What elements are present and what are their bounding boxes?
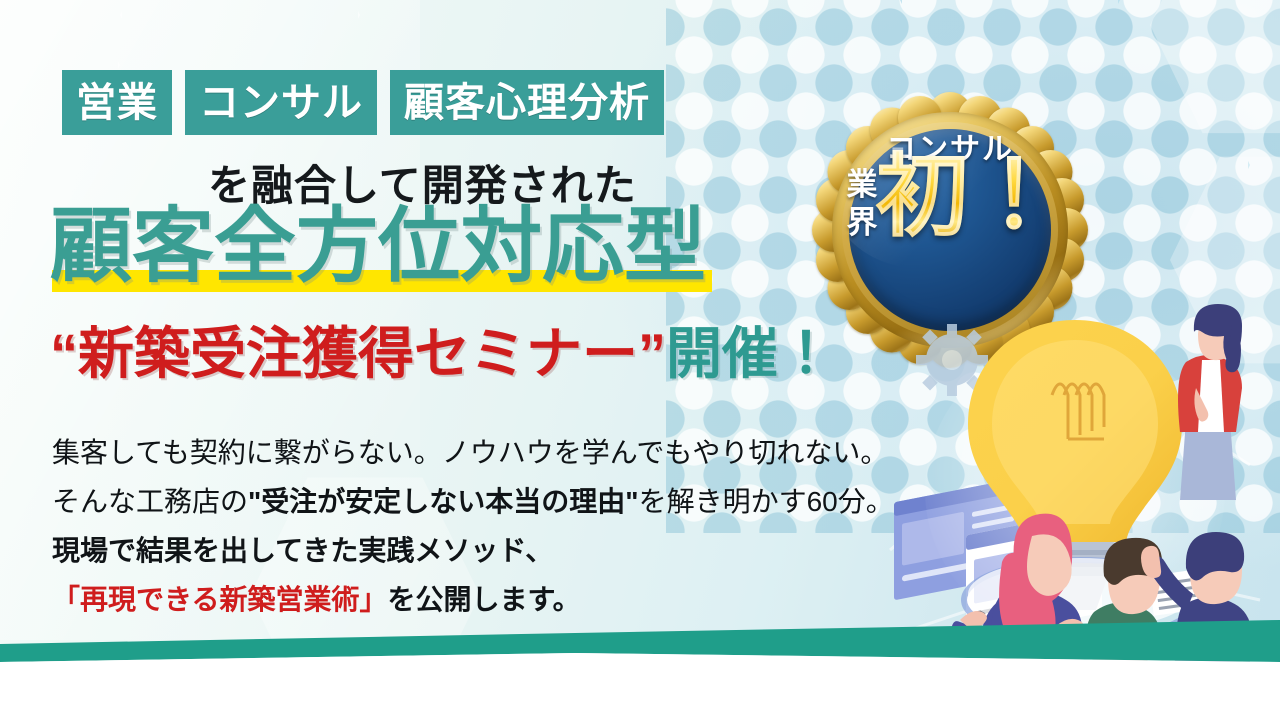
tag-psychology: 顧客心理分析 — [390, 70, 664, 135]
body-line-1: 集客しても契約に繋がらない。ノウハウを学んでもやり切れない。 — [52, 428, 894, 477]
seminar-title-quoted: “新築受注獲得セミナー” — [50, 322, 666, 385]
main-headline: 顧客全方位対応型 — [48, 206, 708, 296]
seminar-title-suffix: 開催！ — [666, 322, 834, 385]
chevron-bottom-white — [0, 653, 1280, 720]
body-line-2-pre: そんな工務店の — [52, 486, 248, 517]
tag-eigyo: 営業 — [62, 70, 172, 135]
person-woman-red-jacket — [1178, 304, 1242, 500]
chevron-svg — [0, 600, 1280, 720]
body-line-2-bold: "受注が安定しない本当の理由" — [248, 486, 639, 517]
seminar-banner: 営業 コンサル 顧客心理分析 を融合して開発された 顧客全方位対応型 “新築受注… — [0, 0, 1280, 720]
tag-row: 営業 コンサル 顧客心理分析 — [62, 70, 664, 135]
body-line-2: そんな工務店の"受注が安定しない本当の理由"を解き明かす60分。 — [52, 477, 894, 526]
body-line-3: 現場で結果を出してきた実践メソッド、 — [52, 526, 894, 575]
bottom-chevron-band — [0, 600, 1280, 720]
hexagon-fill — [1150, 0, 1280, 140]
body-copy: 集客しても契約に繋がらない。ノウハウを学んでもやり切れない。 そんな工務店の"受… — [52, 428, 894, 624]
seal-main-text: 初！ — [876, 150, 1060, 242]
body-line-2-post: を解き明かす60分。 — [639, 486, 894, 517]
seminar-title-line: “新築受注獲得セミナー”開催！ — [50, 326, 834, 382]
tag-consul: コンサル — [185, 70, 377, 135]
headline-wrapper: 顧客全方位対応型 — [48, 206, 708, 296]
